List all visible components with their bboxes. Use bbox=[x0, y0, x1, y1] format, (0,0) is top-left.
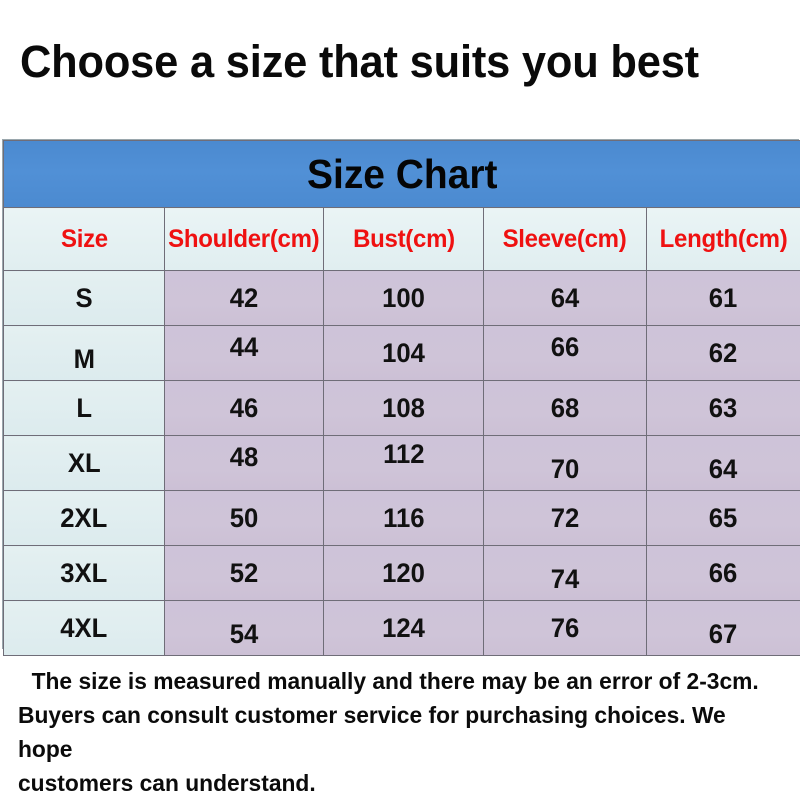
table-row: 2XL 50 116 72 65 bbox=[4, 491, 800, 546]
table-row: S 42 100 64 61 bbox=[4, 271, 800, 326]
disclaimer-line-2: Buyers can consult customer service for … bbox=[18, 698, 770, 766]
size-chart-title: Size Chart bbox=[307, 151, 497, 198]
cell-length: 61 bbox=[647, 271, 800, 326]
cell-length: 65 bbox=[647, 491, 800, 546]
cell-sleeve: 76 bbox=[484, 601, 647, 656]
cell-bust: 100 bbox=[324, 271, 484, 326]
cell-bust: 116 bbox=[324, 491, 484, 546]
cell-size: S bbox=[4, 271, 165, 326]
table-header-row: Size Shoulder(cm) Bust(cm) Sleeve(cm) Le… bbox=[4, 208, 800, 271]
cell-sleeve: 66 bbox=[484, 326, 647, 381]
cell-shoulder: 54 bbox=[165, 601, 324, 656]
cell-size: M bbox=[4, 326, 165, 381]
table-row: L 46 108 68 63 bbox=[4, 381, 800, 436]
size-chart: Size Chart Size Shoulder(cm) Bust(cm) Sl… bbox=[2, 139, 799, 649]
cell-bust: 120 bbox=[324, 546, 484, 601]
cell-length: 64 bbox=[647, 436, 800, 491]
cell-size: 3XL bbox=[4, 546, 165, 601]
cell-length: 67 bbox=[647, 601, 800, 656]
disclaimer-line-1: The size is measured manually and there … bbox=[18, 664, 770, 698]
column-header-sleeve: Sleeve(cm) bbox=[484, 208, 647, 271]
column-header-bust: Bust(cm) bbox=[324, 208, 484, 271]
cell-size: L bbox=[4, 381, 165, 436]
cell-shoulder: 52 bbox=[165, 546, 324, 601]
table-row: M 44 104 66 62 bbox=[4, 326, 800, 381]
cell-shoulder: 48 bbox=[165, 436, 324, 491]
size-chart-title-row: Size Chart bbox=[4, 141, 800, 208]
cell-bust: 124 bbox=[324, 601, 484, 656]
cell-length: 62 bbox=[647, 326, 800, 381]
cell-sleeve: 72 bbox=[484, 491, 647, 546]
cell-size: XL bbox=[4, 436, 165, 491]
cell-bust: 104 bbox=[324, 326, 484, 381]
cell-length: 63 bbox=[647, 381, 800, 436]
column-header-shoulder: Shoulder(cm) bbox=[165, 208, 324, 271]
cell-shoulder: 44 bbox=[165, 326, 324, 381]
disclaimer-line-3: customers can understand. bbox=[18, 766, 770, 800]
size-chart-title-cell: Size Chart bbox=[4, 141, 800, 208]
size-chart-table: Size Chart Size Shoulder(cm) Bust(cm) Sl… bbox=[3, 140, 800, 656]
cell-bust: 108 bbox=[324, 381, 484, 436]
disclaimer-note: The size is measured manually and there … bbox=[18, 664, 770, 800]
cell-shoulder: 46 bbox=[165, 381, 324, 436]
cell-sleeve: 64 bbox=[484, 271, 647, 326]
cell-shoulder: 50 bbox=[165, 491, 324, 546]
page-title: Choose a size that suits you best bbox=[20, 36, 761, 88]
cell-size: 4XL bbox=[4, 601, 165, 656]
column-header-length: Length(cm) bbox=[647, 208, 800, 271]
cell-bust: 112 bbox=[324, 436, 484, 491]
cell-sleeve: 70 bbox=[484, 436, 647, 491]
cell-size: 2XL bbox=[4, 491, 165, 546]
column-header-size: Size bbox=[4, 208, 165, 271]
table-row: 3XL 52 120 74 66 bbox=[4, 546, 800, 601]
cell-sleeve: 74 bbox=[484, 546, 647, 601]
cell-sleeve: 68 bbox=[484, 381, 647, 436]
cell-length: 66 bbox=[647, 546, 800, 601]
table-row: 4XL 54 124 76 67 bbox=[4, 601, 800, 656]
table-row: XL 48 112 70 64 bbox=[4, 436, 800, 491]
cell-shoulder: 42 bbox=[165, 271, 324, 326]
